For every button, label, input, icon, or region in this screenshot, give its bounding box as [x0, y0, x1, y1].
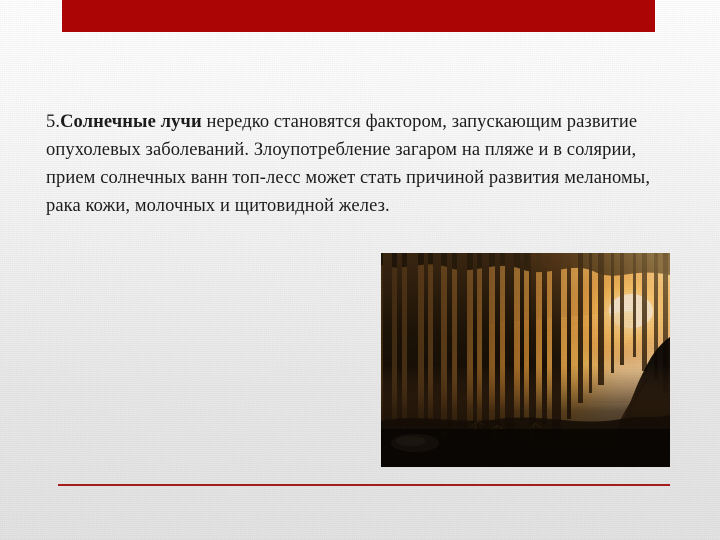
bottom-red-rule: [58, 484, 670, 486]
top-red-banner: [62, 0, 655, 32]
slide-canvas: 5.Солнечные лучи нередко становятся факт…: [0, 0, 720, 540]
lead-phrase: Солнечные лучи: [60, 112, 202, 132]
list-number: 5.: [46, 112, 60, 132]
forest-sunbeams-photo: [381, 253, 670, 467]
body-text-block: 5.Солнечные лучи нередко становятся факт…: [46, 108, 686, 220]
forest-sunbeams-illustration: [381, 253, 670, 467]
